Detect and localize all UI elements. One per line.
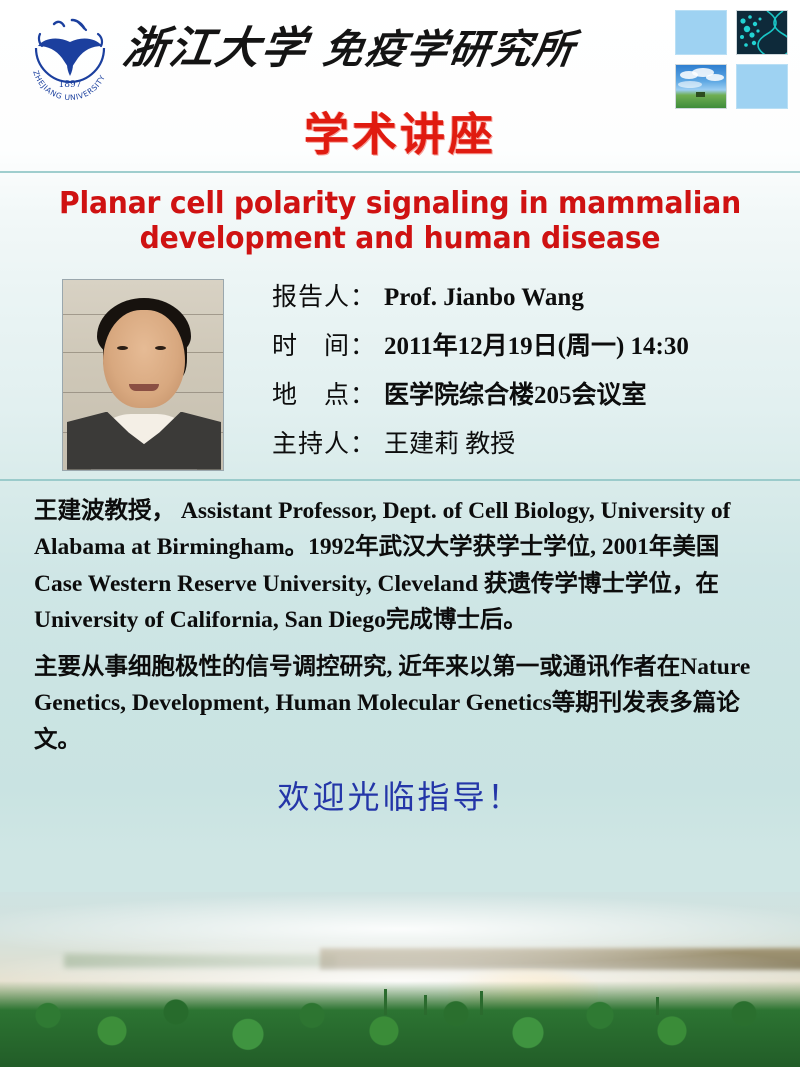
bio-paragraph-1: 王建波教授， Assistant Professor, Dept. of Cel…	[34, 493, 764, 639]
detail-label-speaker: 报告人：	[272, 273, 384, 322]
speaker-info-block: 报告人： Prof. Jianbo Wang 时 间： 2011年12月19日(…	[0, 273, 800, 479]
header-divider	[0, 171, 800, 173]
detail-value-venue: 医学院综合楼205会议室	[384, 371, 647, 420]
detail-row-time: 时 间： 2011年12月19日(周一) 14:30	[272, 322, 790, 371]
decorative-image-tiles	[675, 10, 788, 105]
talk-title-line2: development and human disease	[35, 222, 764, 257]
calligraphy-institute: 免疫学研究所	[320, 27, 578, 73]
detail-row-speaker: 报告人： Prof. Jianbo Wang	[272, 273, 790, 322]
lecture-banner-title: 学术讲座	[0, 98, 800, 163]
info-divider	[0, 479, 800, 481]
seminar-poster: 1897 ZHEJIANG UNIVERSITY 浙江大学免疫学研究所	[0, 0, 800, 1067]
detail-value-time: 2011年12月19日(周一) 14:30	[384, 322, 689, 371]
detail-value-host: 王建莉 教授	[384, 420, 515, 469]
detail-value-speaker: Prof. Jianbo Wang	[384, 273, 584, 322]
detail-label-venue: 地 点：	[272, 371, 384, 420]
plain-blue-tile	[675, 10, 727, 55]
institute-calligraphy: 浙江大学免疫学研究所	[120, 12, 581, 76]
talk-title-line1: Planar cell polarity signaling in mammal…	[35, 187, 764, 222]
detail-row-venue: 地 点： 医学院综合楼205会议室	[272, 371, 790, 420]
speaker-biography: 王建波教授， Assistant Professor, Dept. of Cel…	[34, 493, 764, 759]
scene-foliage	[0, 981, 800, 1067]
speaker-portrait	[62, 279, 224, 471]
dna-molecule-tile	[736, 10, 788, 55]
event-details-list: 报告人： Prof. Jianbo Wang 时 间： 2011年12月19日(…	[272, 273, 790, 469]
misty-lake-landscape-photo	[0, 892, 800, 1067]
calligraphy-university: 浙江大学	[120, 23, 311, 74]
svg-text:1897: 1897	[59, 80, 82, 90]
detail-label-host: 主持人：	[272, 420, 384, 469]
bio-paragraph-2: 主要从事细胞极性的信号调控研究, 近年来以第一或通讯作者在Nature Gene…	[34, 649, 764, 759]
detail-label-time: 时 间：	[272, 322, 384, 371]
zhejiang-university-logo-icon: 1897 ZHEJIANG UNIVERSITY	[14, 8, 126, 100]
welcome-message: 欢迎光临指导！	[0, 772, 800, 818]
poster-header: 1897 ZHEJIANG UNIVERSITY 浙江大学免疫学研究所	[0, 0, 800, 171]
detail-row-host: 主持人： 王建莉 教授	[272, 420, 790, 469]
talk-title: Planar cell polarity signaling in mammal…	[35, 187, 764, 257]
